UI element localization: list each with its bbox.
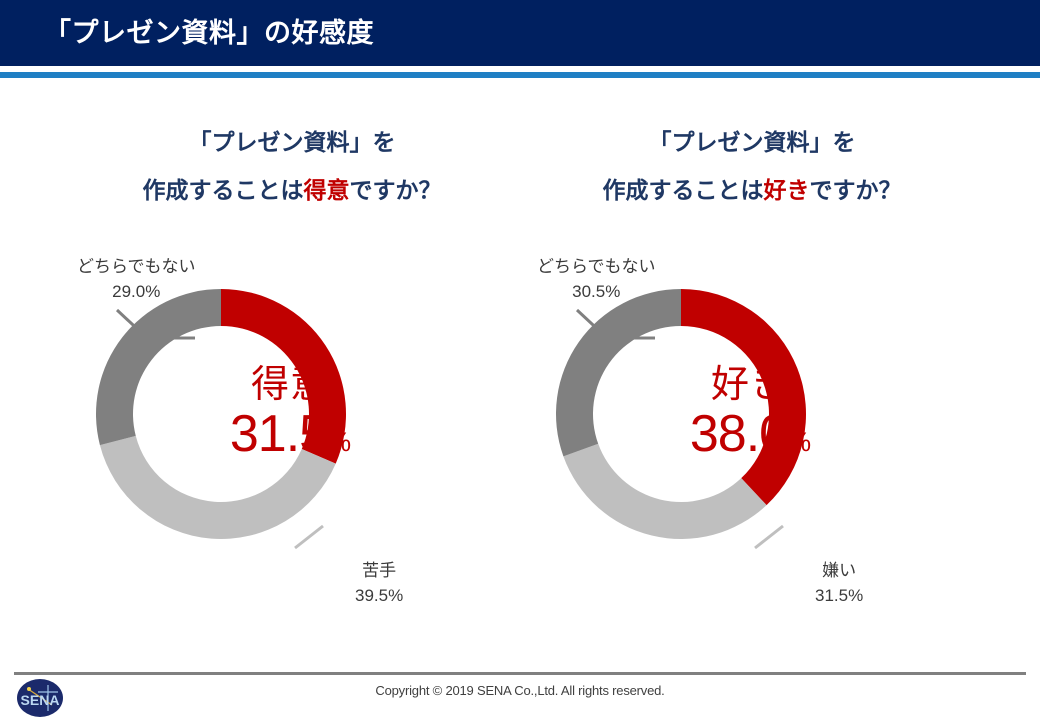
donut-slice-好き [681, 289, 806, 505]
donut-slice-嫌い [563, 444, 766, 539]
callout-left-bottom-label: 苦手 [355, 558, 403, 583]
title-bar: 「プレゼン資料」の好感度 [0, 0, 1040, 66]
leader-line-left-bottom [295, 526, 323, 548]
callout-right-bottom-value: 31.5% [815, 583, 863, 608]
leader-line-right-bottom [755, 526, 783, 548]
question-right-line2: 作成することは好きですか？ [522, 166, 982, 214]
question-left-accent: 得意 [304, 177, 350, 203]
callout-right-bottom-label: 嫌い [815, 558, 863, 583]
question-left-line2: 作成することは得意ですか？ [62, 166, 522, 214]
question-right-line1: 「プレゼン資料」を [522, 118, 982, 166]
slide: 「プレゼン資料」の好感度 「プレゼン資料」を 作成することは得意ですか？ 「プレ… [0, 0, 1040, 720]
callout-left-top-value: 29.0% [77, 279, 196, 304]
question-left-line2-suffix: ですか？ [350, 177, 442, 203]
donut-chart-left: 得意 31.5% どちらでもない 29.0% 苦手 39.5% [55, 248, 525, 628]
question-heading-right: 「プレゼン資料」を 作成することは好きですか？ [522, 118, 982, 214]
question-left-line1: 「プレゼン資料」を [62, 118, 522, 166]
callout-right-top: どちらでもない 30.5% [537, 254, 656, 304]
donut-slice-どちらでもない [556, 289, 681, 456]
donut-chart-left-svg [55, 248, 525, 628]
title-accent-rule [0, 72, 1040, 78]
question-right-line2-prefix: 作成することは [603, 177, 764, 203]
callout-right-top-value: 30.5% [537, 279, 656, 304]
question-left-line2-prefix: 作成することは [143, 177, 304, 203]
copyright-text: Copyright © 2019 SENA Co.,Ltd. All right… [0, 683, 1040, 698]
donut-chart-right-svg [515, 248, 985, 628]
donut-slice-得意 [221, 289, 346, 464]
question-right-accent: 好き [764, 177, 810, 203]
question-right-line2-suffix: ですか？ [810, 177, 902, 203]
donut-slice-苦手 [100, 436, 336, 539]
question-heading-left: 「プレゼン資料」を 作成することは得意ですか？ [62, 118, 522, 214]
footer-divider [14, 672, 1026, 675]
callout-left-top: どちらでもない 29.0% [77, 254, 196, 304]
page-title: 「プレゼン資料」の好感度 [44, 0, 374, 66]
callout-left-top-label: どちらでもない [77, 254, 196, 279]
callout-right-top-label: どちらでもない [537, 254, 656, 279]
callout-left-bottom: 苦手 39.5% [355, 558, 403, 608]
donut-chart-right: 好き 38.0% どちらでもない 30.5% 嫌い 31.5% [515, 248, 985, 628]
callout-left-bottom-value: 39.5% [355, 583, 403, 608]
donut-slice-どちらでもない [96, 289, 221, 445]
callout-right-bottom: 嫌い 31.5% [815, 558, 863, 608]
